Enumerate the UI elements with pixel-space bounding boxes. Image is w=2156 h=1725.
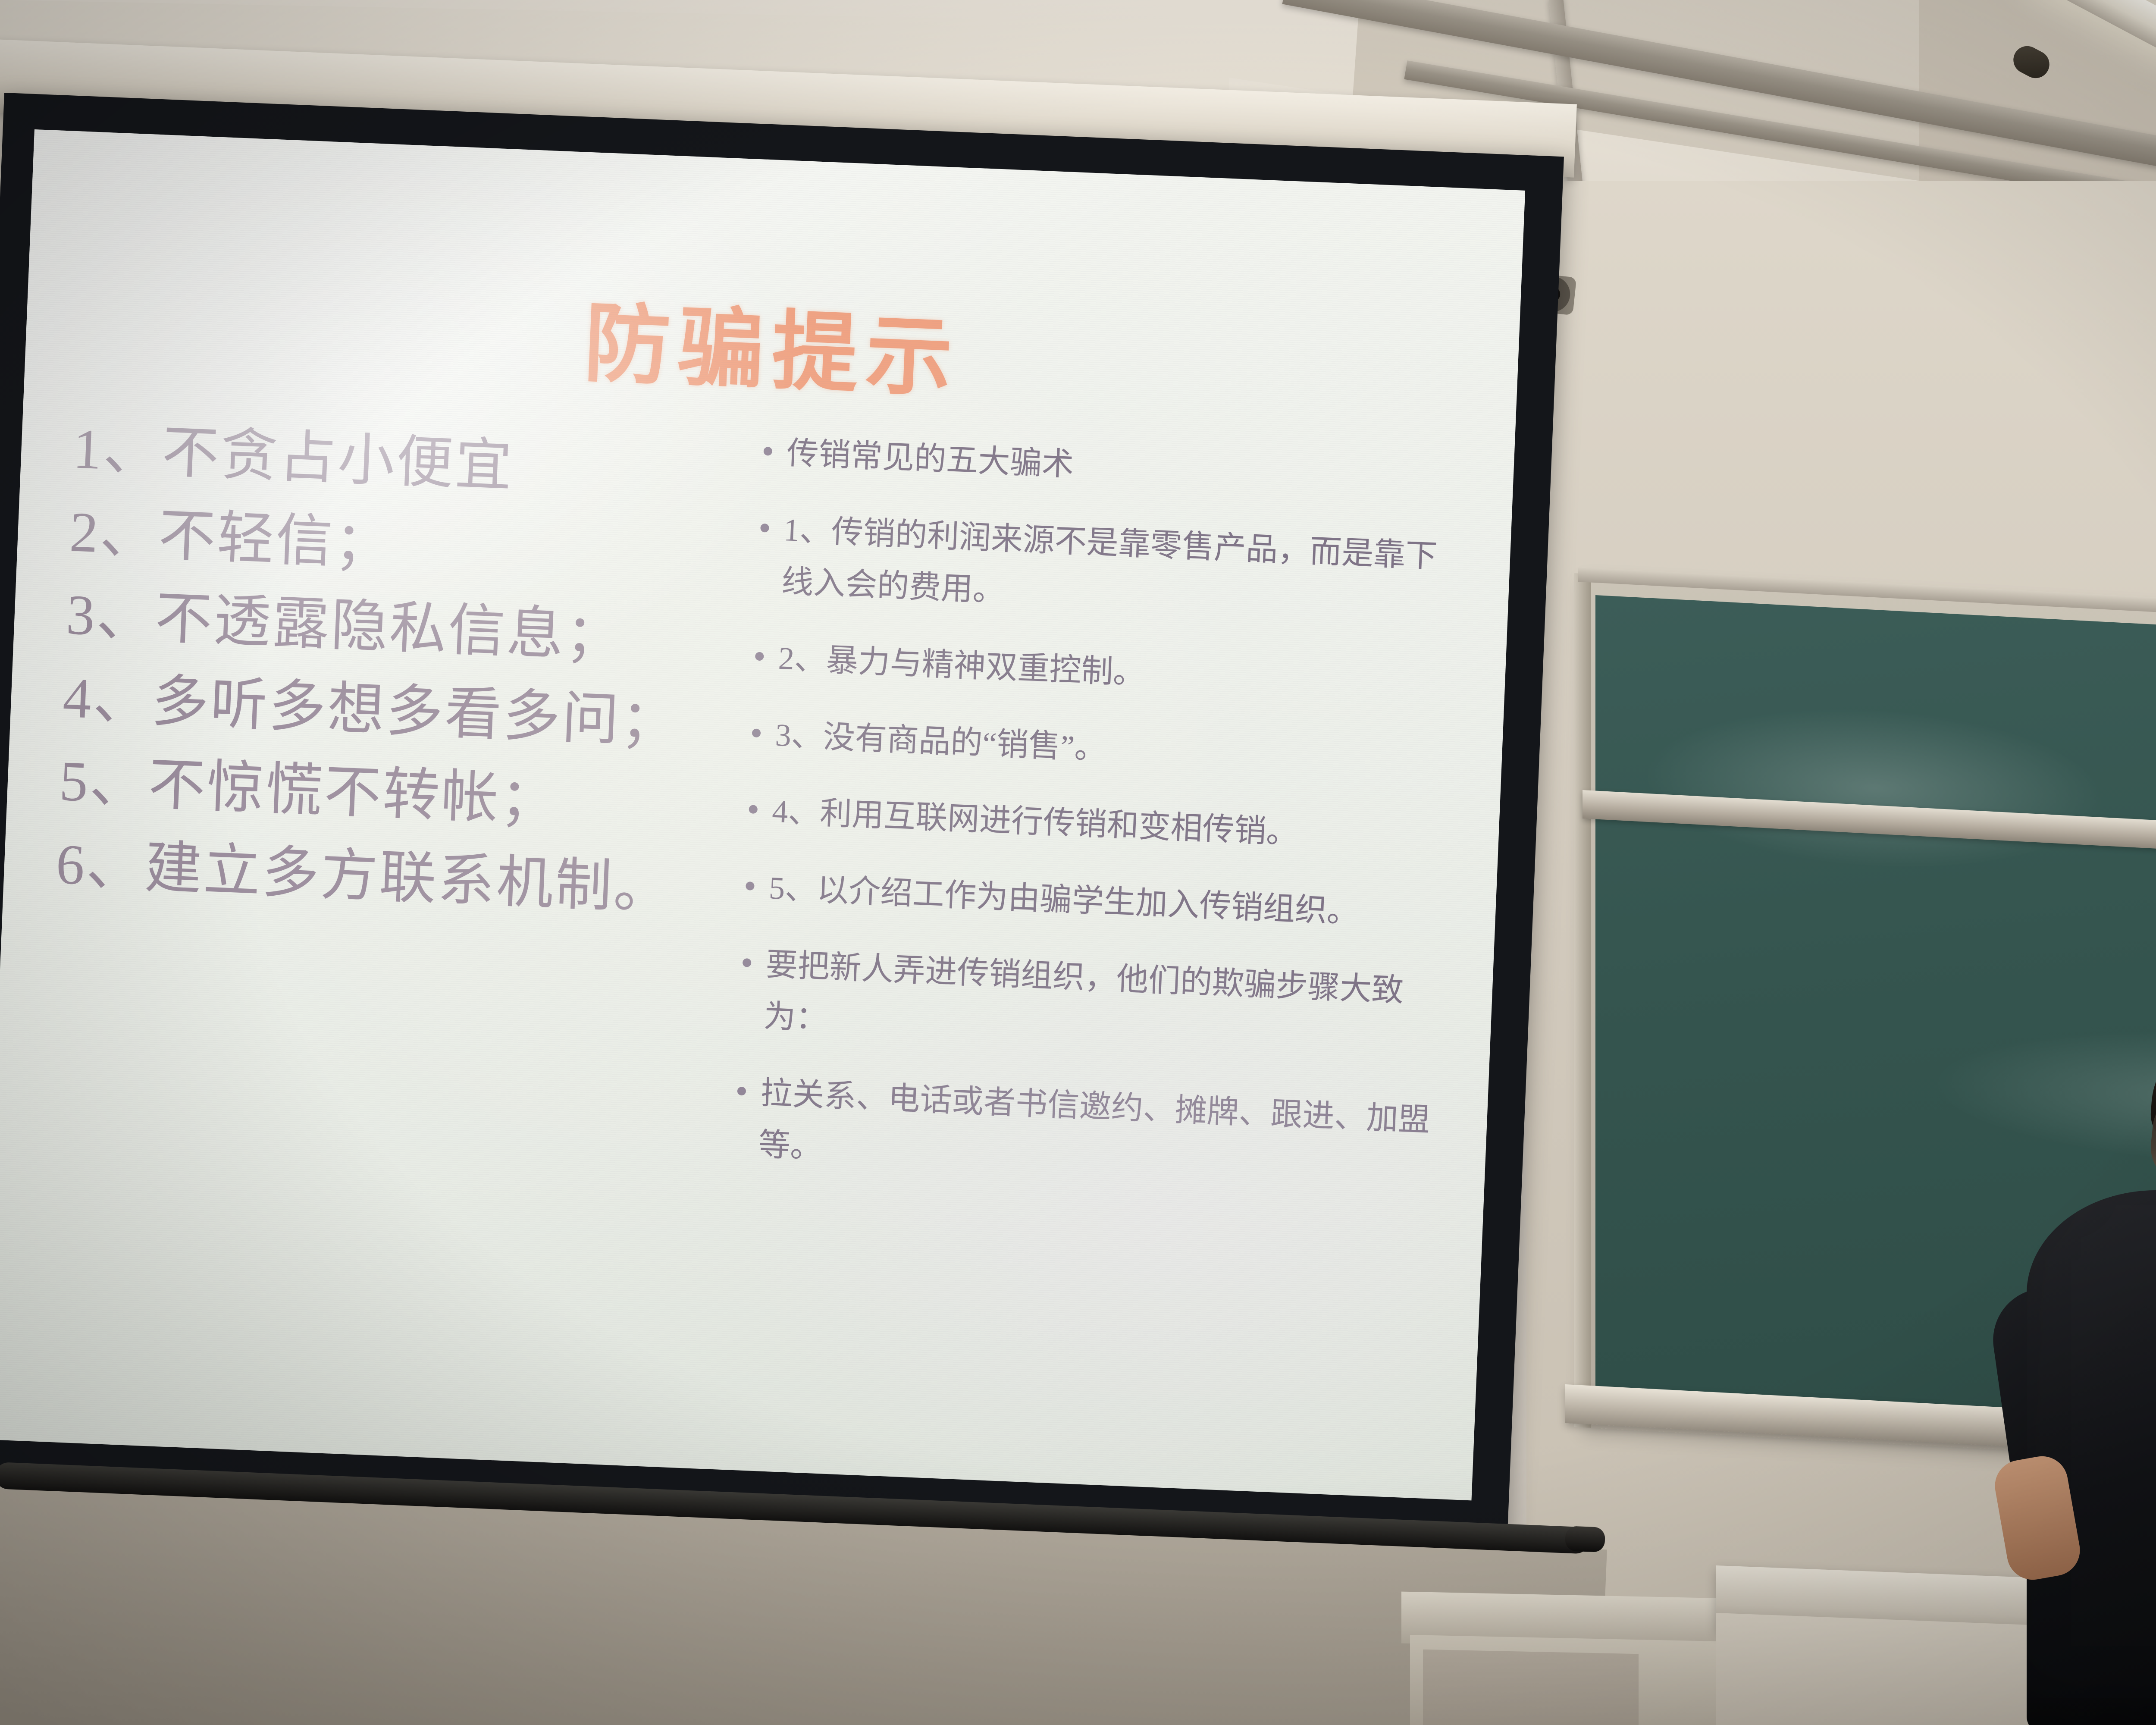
- bullet-dot-icon: [743, 958, 752, 967]
- list-item: 2、暴力与精神双重控制。: [754, 632, 1463, 712]
- bullet-dot-icon: [749, 805, 758, 814]
- slide-right-column: 传销常见的五大骗术 1、传销的利润来源不是靠零售产品，而是靠下线入会的费用。 2…: [733, 427, 1471, 1224]
- list-item: 要把新人弄进传销组织，他们的欺骗步骤大致为：: [740, 938, 1450, 1071]
- list-item: 拉关系、电话或者书信邀约、摊牌、跟进、加盟等。: [734, 1067, 1445, 1199]
- bullet-dot-icon: [737, 1087, 746, 1096]
- slide-content: 防骗提示 1、不贪占小便宜 2、不轻信； 3、不透露隐私信息； 4、多听多想多看…: [0, 129, 1525, 1500]
- bullet-dot-icon: [746, 881, 755, 891]
- classroom-scene: MEI YE 防骗提示 1、不贪占小便宜 2、不轻信； 3、不透露隐私信息； 4…: [0, 0, 2156, 1725]
- bullet-dot-icon: [760, 524, 769, 533]
- slide-left-column: 1、不贪占小便宜 2、不轻信； 3、不透露隐私信息； 4、多听多想多看多问； 5…: [54, 407, 747, 933]
- podium-cabinet-recess: [1423, 1650, 1639, 1725]
- bullet-text: 3、没有商品的“销售”。: [774, 709, 1460, 789]
- blackboard-left-edge: [1574, 573, 1591, 1428]
- bullet-dot-icon: [763, 447, 772, 456]
- list-item: 3、没有商品的“销售”。: [751, 709, 1460, 789]
- list-item: 4、利用互联网进行传销和变相传销。: [748, 785, 1457, 866]
- bullet-text: 要把新人弄进传销组织，他们的欺骗步骤大致为：: [763, 939, 1450, 1071]
- bullet-text: 4、利用互联网进行传销和变相传销。: [771, 786, 1457, 866]
- presenter-person: [2001, 1026, 2156, 1725]
- projection-screen-roller-knob[interactable]: [1565, 1526, 1605, 1552]
- list-item: 传销常见的五大骗术: [762, 427, 1471, 508]
- bullet-text: 传销常见的五大骗术: [786, 428, 1471, 508]
- bullet-text: 2、暴力与精神双重控制。: [777, 633, 1463, 712]
- slide-title: 防骗提示: [25, 250, 1520, 436]
- list-item: 5、以介绍工作为由骗学生加入传销组织。: [745, 862, 1454, 942]
- bullet-text: 1、传销的利润来源不是靠零售产品，而是靠下线入会的费用。: [780, 505, 1468, 636]
- bullet-dot-icon: [752, 728, 761, 737]
- bullet-dot-icon: [755, 652, 764, 661]
- projection-screen-surface: 防骗提示 1、不贪占小便宜 2、不轻信； 3、不透露隐私信息； 4、多听多想多看…: [0, 129, 1525, 1500]
- bullet-text: 5、以介绍工作为由骗学生加入传销组织。: [768, 863, 1454, 943]
- list-item: 1、传销的利润来源不是靠零售产品，而是靠下线入会的费用。: [757, 504, 1468, 636]
- bullet-text: 拉关系、电话或者书信邀约、摊牌、跟进、加盟等。: [757, 1068, 1445, 1199]
